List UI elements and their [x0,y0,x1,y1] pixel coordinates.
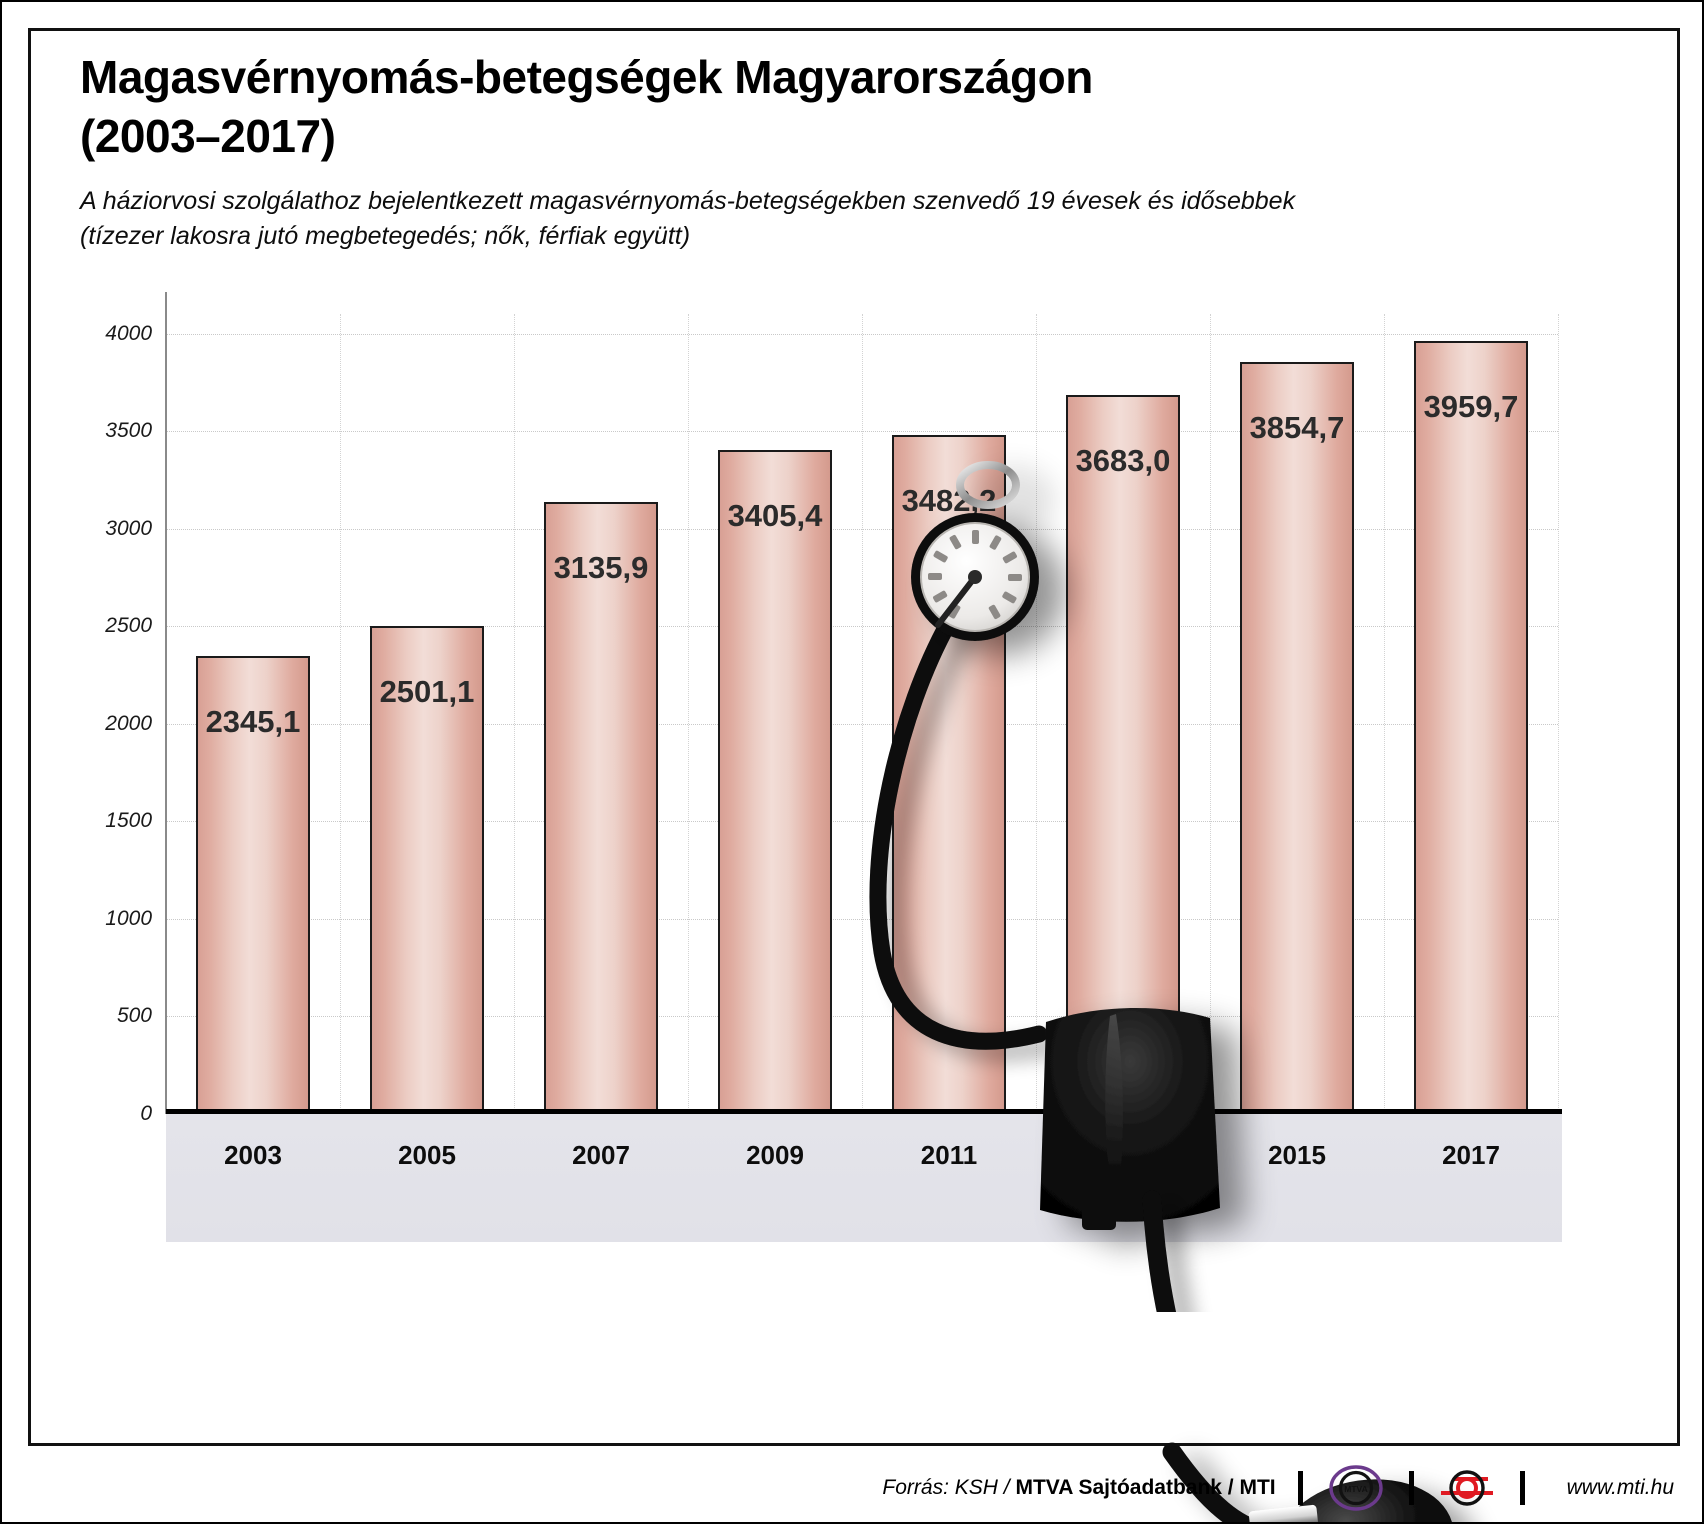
y-axis-line [165,292,167,1114]
bar-value-label: 2501,1 [380,674,475,710]
source-prefix: Forrás: KSH / [882,1476,1015,1499]
x-axis-tick-label: 2007 [572,1140,630,1171]
vertical-gridline [1210,314,1211,1114]
bar-2005[interactable]: 2501,1 [370,626,484,1114]
y-axis-tick-label: 2500 [105,614,152,638]
y-axis-tick-label: 4000 [105,322,152,346]
vertical-gridline [1384,314,1385,1114]
bar-value-label: 3683,0 [1076,443,1171,479]
y-axis-tick-label: 0 [140,1102,152,1126]
footer-divider-1 [1298,1471,1303,1505]
infographic-poster: Magasvérnyomás-betegségek Magyarországon… [0,0,1704,1524]
bar-value-label: 3854,7 [1250,410,1345,446]
y-axis-tick-label: 2000 [105,712,152,736]
vertical-gridline [688,314,689,1114]
x-axis-tick-label: 2015 [1268,1140,1326,1171]
vertical-gridline [514,314,515,1114]
page-title: Magasvérnyomás-betegségek Magyarországon… [80,48,1480,166]
y-axis-tick-label: 1000 [105,907,152,931]
bar-2007[interactable]: 3135,9 [544,502,658,1114]
y-axis-tick-label: 1500 [105,809,152,833]
plot-area: 05001000150020002500300035004000 2345,12… [166,314,1558,1114]
bar-value-label: 3135,9 [554,550,649,586]
bar-2003[interactable]: 2345,1 [196,656,310,1114]
vertical-gridline [1036,314,1037,1114]
bar-value-label: 3959,7 [1424,389,1519,425]
source-bold: MTVA Sajtóadatbank / MTI [1015,1476,1275,1499]
bar-2009[interactable]: 3405,4 [718,450,832,1114]
bar-2011[interactable]: 3482,2 [892,435,1006,1114]
vertical-gridline [340,314,341,1114]
footer: Forrás: KSH / MTVA Sajtóadatbank / MTI M… [28,1464,1680,1512]
x-axis-tick-label: 2017 [1442,1140,1500,1171]
x-axis-band: 20032005200720092011201320152017 [166,1114,1562,1242]
mti-logo[interactable] [1436,1465,1498,1511]
x-axis-tick-label: 2011 [921,1140,977,1171]
x-axis-tick-label: 2009 [746,1140,804,1171]
mti-url[interactable]: www.mti.hu [1567,1476,1674,1500]
vertical-gridline [1558,314,1559,1114]
x-axis-tick-label: 2003 [224,1140,282,1171]
vertical-gridline [862,314,863,1114]
y-axis-tick-label: 500 [117,1004,152,1028]
footer-divider-3 [1520,1471,1525,1505]
mtva-logo[interactable]: MTVA [1325,1465,1387,1511]
y-axis-tick-label: 3500 [105,419,152,443]
bar-chart: 05001000150020002500300035004000 2345,12… [54,292,1614,1242]
bar-value-label: 3482,2 [902,483,997,519]
bar-2017[interactable]: 3959,7 [1414,341,1528,1114]
y-axis-tick-label: 3000 [105,517,152,541]
bar-2015[interactable]: 3854,7 [1240,362,1354,1114]
page-subtitle: A háziorvosi szolgálathoz bejelentkezett… [80,184,1440,253]
footer-divider-2 [1409,1471,1414,1505]
mtva-logo-label: MTVA [1344,1484,1367,1494]
bar-2013[interactable]: 3683,0 [1066,395,1180,1114]
bar-value-label: 3405,4 [728,498,823,534]
x-axis-tick-label: 2013 [1094,1140,1152,1171]
bar-value-label: 2345,1 [206,704,301,740]
x-axis-tick-label: 2005 [398,1140,456,1171]
source-credit: Forrás: KSH / MTVA Sajtóadatbank / MTI [882,1476,1275,1500]
